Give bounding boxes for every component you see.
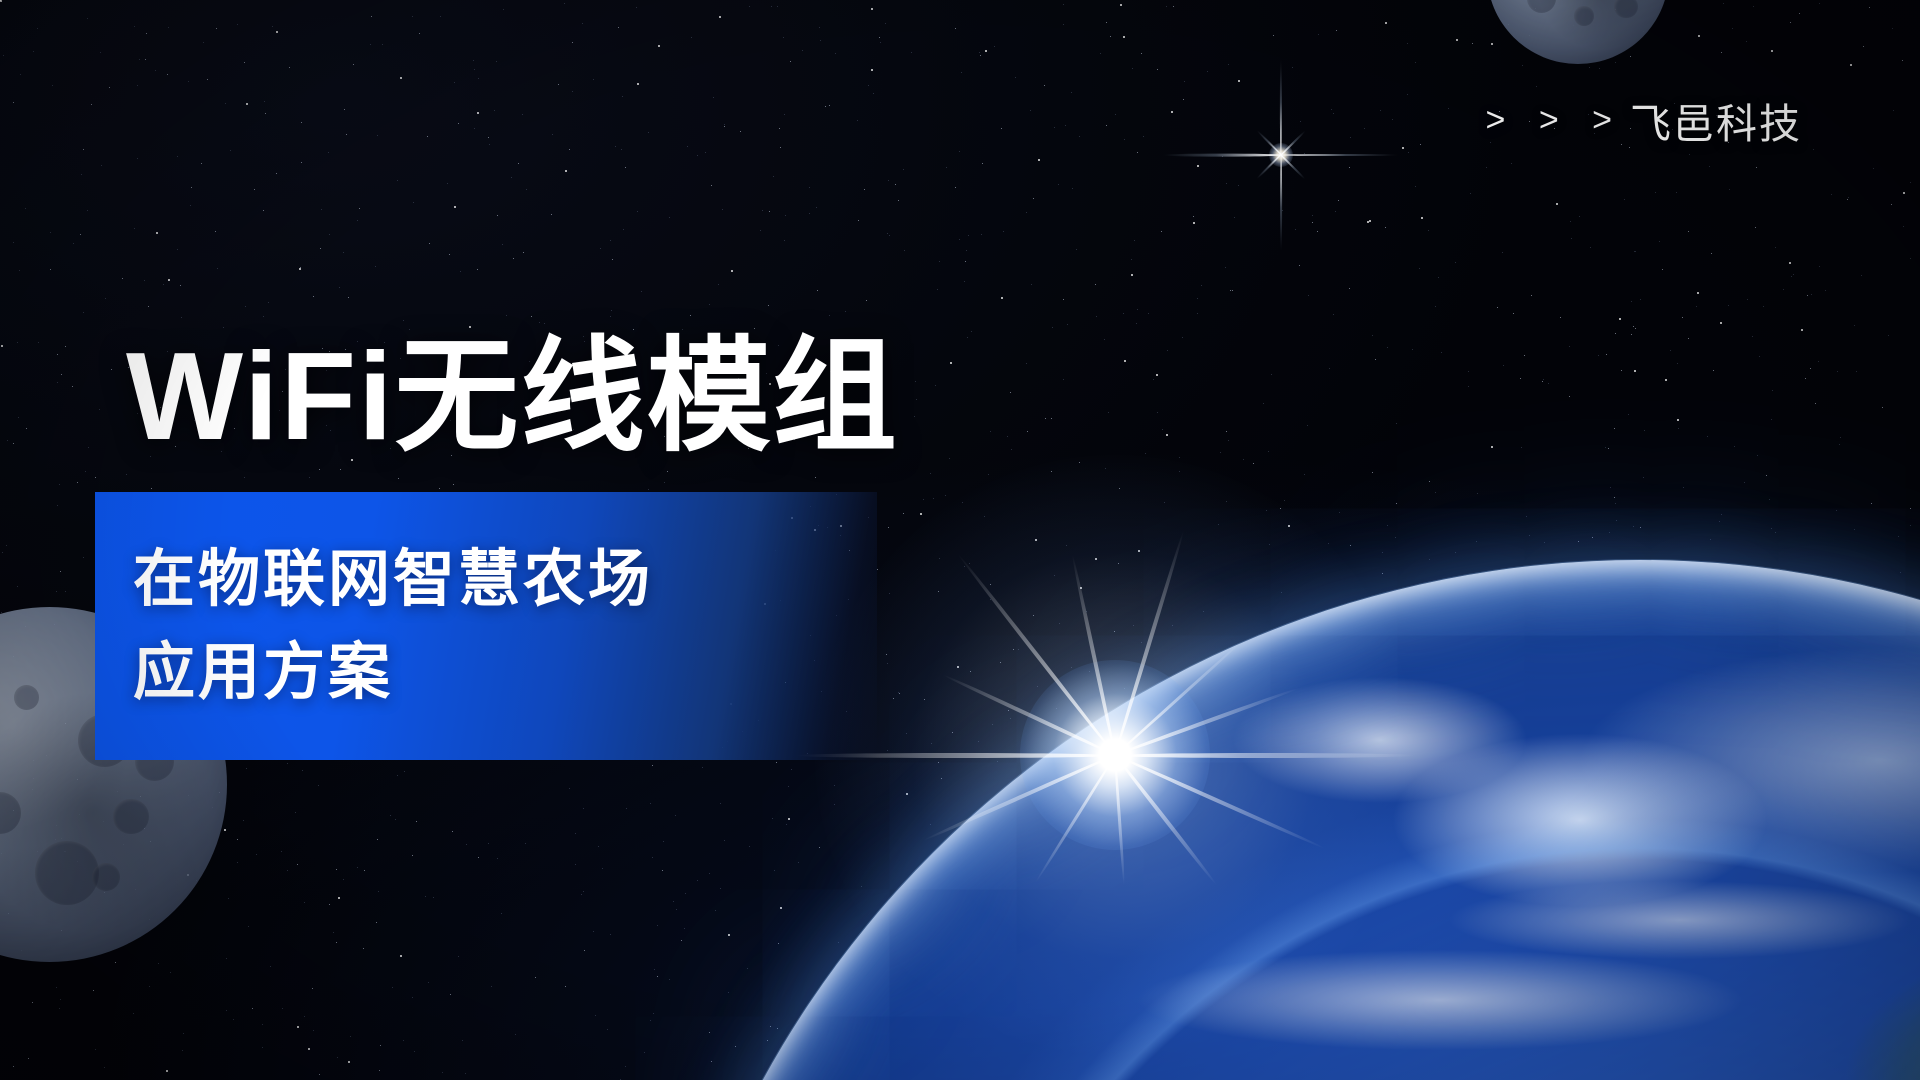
moon-crater — [14, 685, 39, 710]
moon-crater — [1527, 0, 1556, 13]
subtitle-line-2: 应用方案 — [133, 626, 877, 719]
bright-star-beam — [1281, 154, 1399, 157]
moon-crater — [113, 799, 149, 835]
bright-star-beam — [1280, 155, 1282, 251]
page-title: WiFi无线模组 — [126, 332, 899, 463]
slide-canvas: > > > 飞邑科技 WiFi无线模组 在物联网智慧农场 应用方案 — [0, 0, 1920, 1080]
moon-crater — [1614, 0, 1638, 18]
moon-crater — [92, 863, 120, 891]
brand-name: 飞邑科技 — [1630, 90, 1802, 150]
moon-crater — [0, 792, 21, 835]
chevron-right-icon: > > > — [1486, 101, 1624, 140]
brand-logo[interactable]: > > > 飞邑科技 — [1486, 90, 1802, 150]
moon-crater — [35, 841, 99, 905]
bright-star-beam — [1163, 154, 1281, 157]
subtitle-banner: 在物联网智慧农场 应用方案 — [95, 492, 877, 760]
subtitle-line-1: 在物联网智慧农场 — [133, 533, 877, 626]
moon-crater — [1574, 6, 1594, 26]
